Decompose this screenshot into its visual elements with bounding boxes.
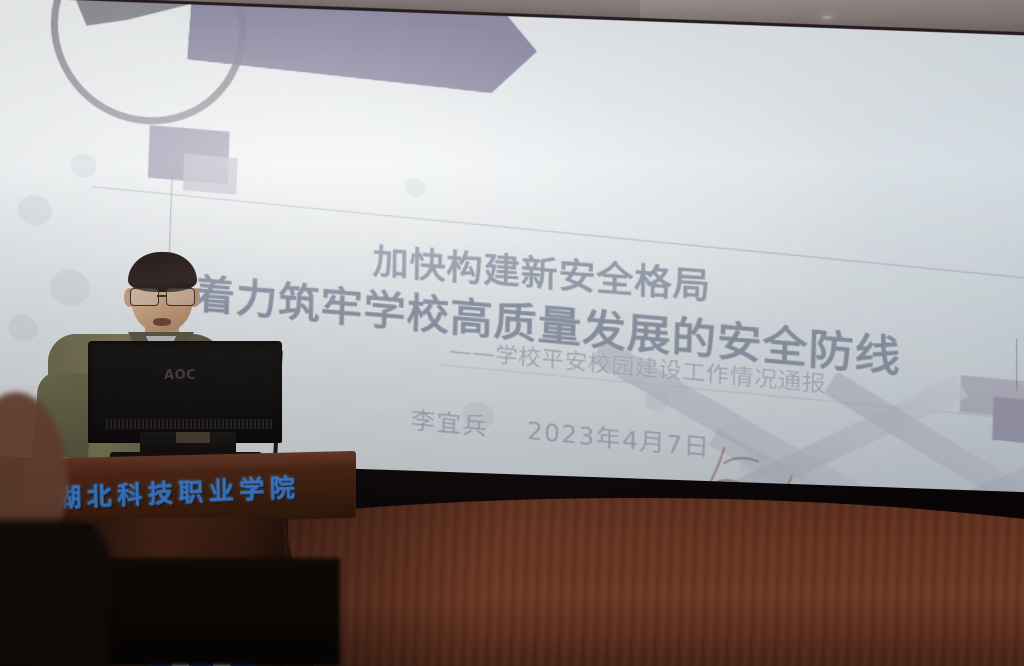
monitor-vent <box>106 419 272 429</box>
slide-byline: 李宜兵2023年4月7日 <box>410 400 710 463</box>
bubble-watermark <box>50 268 90 307</box>
speaker-mouth <box>153 318 171 326</box>
ceiling-downlight <box>818 14 836 21</box>
bubble-watermark <box>18 194 52 226</box>
bubble-watermark <box>8 314 38 342</box>
decorative-rect <box>183 154 238 195</box>
slide-presenter-name: 李宜兵 <box>410 407 488 441</box>
monitor-brand-label: AOC <box>164 368 222 382</box>
glasses-icon <box>130 288 196 305</box>
decorative-rect <box>992 396 1024 448</box>
decorative-connector-line <box>1016 339 1017 391</box>
decorative-arrow-banner <box>187 0 540 98</box>
bubble-watermark <box>70 153 96 179</box>
slide-date: 2023年4月7日 <box>527 418 711 462</box>
foreground-audience-body <box>0 520 110 666</box>
monitor-badge <box>176 432 210 443</box>
presentation-photo: 加快构建新安全格局 着力筑牢学校高质量发展的安全防线 ——学校平安校园建设工作情… <box>0 0 1024 666</box>
bubble-watermark <box>404 178 425 198</box>
